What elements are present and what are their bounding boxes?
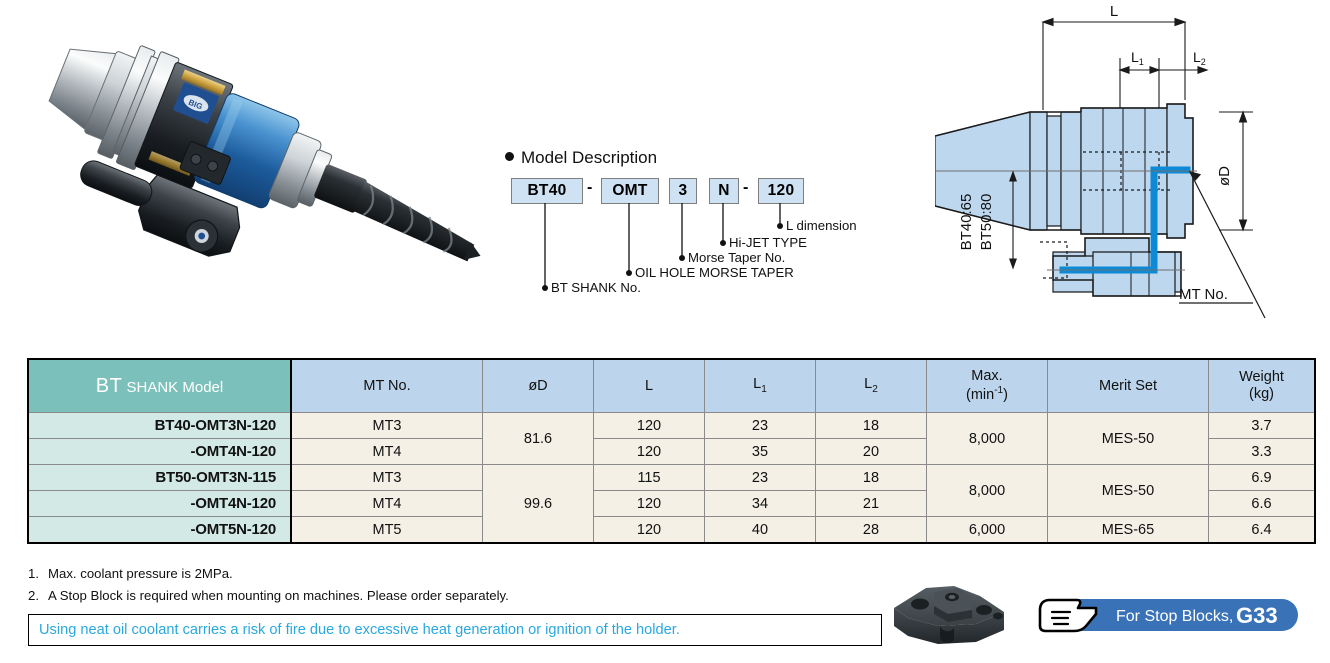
leader-dot-hi-jet: [720, 240, 726, 246]
leader-label-morse-taper: Morse Taper No.: [688, 250, 785, 265]
cell-l1: 35: [705, 439, 816, 465]
cell-merit-set: MES-50: [1048, 413, 1209, 465]
stop-block-photo: [880, 582, 1010, 656]
callout-label-mt-no: MT No.: [1179, 286, 1228, 303]
footnote-item: 2.A Stop Block is required when mounting…: [28, 588, 728, 603]
dim-label-diameter: øD: [1216, 166, 1233, 186]
cell-mt: MT4: [291, 439, 483, 465]
cell-model: BT50-OMT3N-115: [28, 465, 291, 491]
column-header-max-rpm: Max. (min-1): [927, 359, 1048, 413]
cell-mt: MT3: [291, 413, 483, 439]
stop-block-link-label: For Stop Blocks,: [1116, 608, 1233, 625]
leader-dot-oil-hole: [626, 270, 632, 276]
cell-model: -OMT4N-120: [28, 439, 291, 465]
cell-diameter: 99.6: [483, 465, 594, 544]
stop-block-link-page: G33: [1236, 603, 1278, 628]
leader-label-hi-jet: Hi-JET TYPE: [729, 235, 807, 250]
cell-l: 120: [594, 491, 705, 517]
cell-weight: 3.7: [1209, 413, 1316, 439]
column-header-l1: L1: [705, 359, 816, 413]
cell-l: 120: [594, 439, 705, 465]
table-row: -OMT5N-120 MT5 120 40 28 6,000 MES-65 6.…: [28, 517, 1315, 544]
leader-dot-morse-taper: [679, 255, 685, 261]
cell-max-rpm: 8,000: [927, 465, 1048, 517]
cell-l1: 40: [705, 517, 816, 544]
cell-model: -OMT5N-120: [28, 517, 291, 544]
leader-label-bt-shank: BT SHANK No.: [551, 280, 641, 295]
cell-l1: 23: [705, 413, 816, 439]
model-description-diagram: Model Description BT40 - OMT 3 N - 120 B…: [505, 148, 925, 318]
leader-label-l-dimension: L dimension: [786, 218, 857, 233]
table-header-row: BT SHANK Model MT No. øD L L1 L2 Max. (m…: [28, 359, 1315, 413]
cell-mt: MT3: [291, 465, 483, 491]
leader-dot-l-dimension: [777, 223, 783, 229]
footnote-number: 2.: [28, 588, 48, 603]
specification-table: BT SHANK Model MT No. øD L L1 L2 Max. (m…: [27, 358, 1316, 544]
cell-weight: 6.6: [1209, 491, 1316, 517]
warning-text: Using neat oil coolant carries a risk of…: [29, 622, 680, 638]
cell-l: 115: [594, 465, 705, 491]
cell-max-rpm: 6,000: [927, 517, 1048, 544]
leader-dot-bt-shank: [542, 285, 548, 291]
cell-l1: 23: [705, 465, 816, 491]
cell-l2: 18: [816, 465, 927, 491]
cell-l: 120: [594, 413, 705, 439]
cell-model: -OMT4N-120: [28, 491, 291, 517]
cell-mt: MT4: [291, 491, 483, 517]
gauge-label-bt40: BT40:65: [958, 194, 975, 251]
column-header-l2: L2: [816, 359, 927, 413]
column-header-model: BT SHANK Model: [28, 359, 291, 413]
cell-l2: 28: [816, 517, 927, 544]
column-header-mt-no: MT No.: [291, 359, 483, 413]
column-header-diameter: øD: [483, 359, 594, 413]
cell-mt: MT5: [291, 517, 483, 544]
cell-merit-set: MES-50: [1048, 465, 1209, 517]
cell-weight: 3.3: [1209, 439, 1316, 465]
warning-box: Using neat oil coolant carries a risk of…: [28, 614, 882, 646]
column-header-l: L: [594, 359, 705, 413]
stop-block-reference-link[interactable]: For Stop Blocks, G33: [1030, 597, 1330, 629]
cell-max-rpm: 8,000: [927, 413, 1048, 465]
product-photo: BIG: [18, 16, 498, 316]
cell-diameter: 81.6: [483, 413, 594, 465]
cell-weight: 6.4: [1209, 517, 1316, 544]
cell-l2: 21: [816, 491, 927, 517]
leader-label-oil-hole: OIL HOLE MORSE TAPER: [635, 265, 794, 280]
dim-label-L2: L2: [1193, 49, 1206, 67]
footnotes: 1.Max. coolant pressure is 2MPa. 2.A Sto…: [28, 566, 728, 610]
footnote-text: Max. coolant pressure is 2MPa.: [48, 566, 233, 581]
cell-weight: 6.9: [1209, 465, 1316, 491]
cell-model: BT40-OMT3N-120: [28, 413, 291, 439]
cell-l2: 18: [816, 413, 927, 439]
dim-label-L: L: [1110, 3, 1118, 20]
footnote-item: 1.Max. coolant pressure is 2MPa.: [28, 566, 728, 581]
cell-merit-set: MES-65: [1048, 517, 1209, 544]
dim-label-L1: L1: [1131, 49, 1144, 67]
cell-l1: 34: [705, 491, 816, 517]
footnote-text: A Stop Block is required when mounting o…: [48, 588, 509, 603]
technical-drawing: L L1 L2 øD BT40:65 BT50:80 MT No.: [935, 0, 1330, 340]
cell-l: 120: [594, 517, 705, 544]
footnote-number: 1.: [28, 566, 48, 581]
gauge-label-bt50: BT50:80: [978, 194, 995, 251]
table-row: BT50-OMT3N-115 MT3 99.6 115 23 18 8,000 …: [28, 465, 1315, 491]
table-row: BT40-OMT3N-120 MT3 81.6 120 23 18 8,000 …: [28, 413, 1315, 439]
cell-l2: 20: [816, 439, 927, 465]
column-header-merit-set: Merit Set: [1048, 359, 1209, 413]
column-header-weight: Weight(kg): [1209, 359, 1316, 413]
